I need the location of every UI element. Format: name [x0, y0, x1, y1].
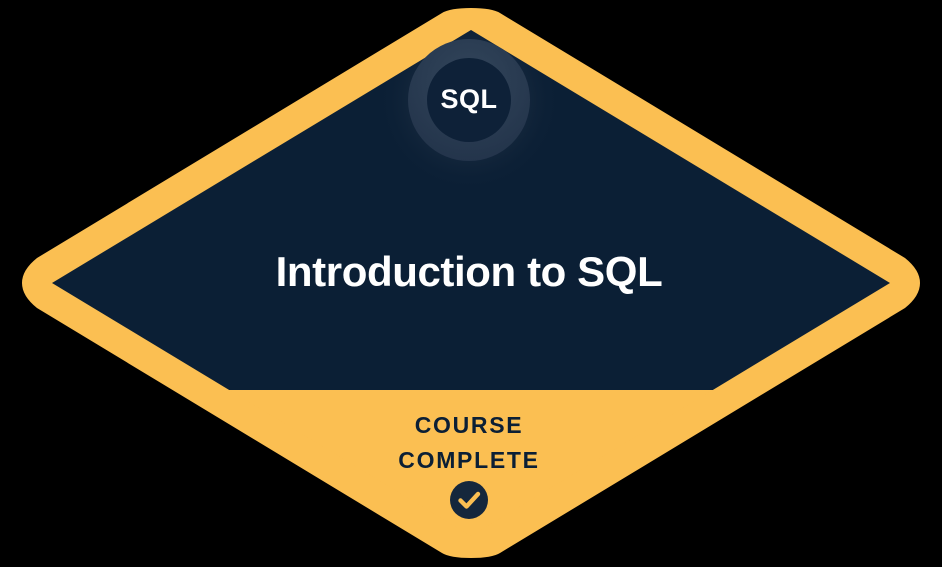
sql-emblem-inner-disc — [427, 58, 511, 142]
course-completion-badge[interactable]: SQL Introduction to SQL COURSE COMPLETE — [0, 0, 942, 567]
check-circle-disc — [450, 481, 488, 519]
badge-graphic — [0, 0, 942, 567]
